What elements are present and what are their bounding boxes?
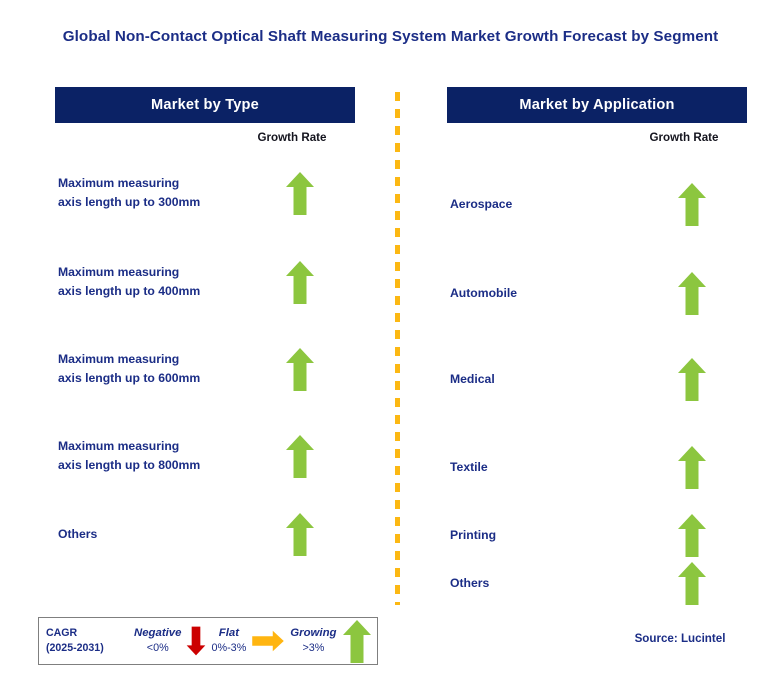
segment-row: Maximum measuringaxis length up to 400mm [55,254,355,310]
legend-entry-name: Growing [290,626,336,641]
growth-rate-cell [245,512,355,557]
segment-row: Others [55,506,355,562]
growth-rate-header-type: Growth Rate [237,131,347,144]
growth-rate-cell [637,513,747,558]
legend-entry-text: Flat0%-3% [208,626,249,656]
legend-entry-icon-wrap [184,626,208,656]
legend-entry-text: Negative<0% [131,626,184,656]
legend-cagr-title: CAGR (2025-2031) [39,626,131,656]
growth-rate-cell [637,445,747,490]
segment-label-line1: Maximum measuring [58,174,245,193]
arrow-up-icon [342,619,372,664]
growth-rate-cell [637,561,747,606]
segment-row: Others [447,555,747,611]
segment-row: Aerospace [447,176,747,232]
legend-entry-icon-wrap [340,619,374,664]
segment-label: Maximum measuringaxis length up to 800mm [55,437,245,475]
legend-entry: Negative<0% [131,618,208,664]
cagr-legend: CAGR (2025-2031) Negative<0%Flat0%-3%Gro… [38,617,378,665]
segment-label-line1: Maximum measuring [58,263,245,282]
growth-rate-cell [245,171,355,216]
arrow-up-icon [285,512,315,557]
growth-rate-cell [245,434,355,479]
legend-entry-range: >3% [290,641,336,656]
segment-label: Aerospace [447,195,637,214]
segment-label-line1: Automobile [450,284,637,303]
growth-rate-header-application: Growth Rate [629,131,739,144]
legend-entry: Flat0%-3% [208,618,287,664]
arrow-up-icon [677,271,707,316]
growth-rate-cell [637,271,747,316]
segment-label-line1: Printing [450,526,637,545]
legend-cagr-line2: (2025-2031) [46,641,131,656]
segment-label: Textile [447,458,637,477]
segment-label: Medical [447,370,637,389]
segment-row: Maximum measuringaxis length up to 800mm [55,428,355,484]
vertical-dashed-divider [395,92,400,605]
segment-label-line1: Maximum measuring [58,350,245,369]
segment-label-line2: axis length up to 600mm [58,369,245,388]
segment-row: Automobile [447,265,747,321]
panel-market-by-type: Market by Type Growth Rate Maximum measu… [55,87,355,123]
segment-row: Maximum measuringaxis length up to 600mm [55,341,355,397]
segment-label-line2: axis length up to 800mm [58,456,245,475]
segment-row: Maximum measuringaxis length up to 300mm [55,165,355,221]
legend-cagr-line1: CAGR [46,626,131,641]
arrow-up-icon [677,357,707,402]
segment-label-line1: Textile [450,458,637,477]
growth-rate-cell [245,347,355,392]
arrow-up-icon [677,561,707,606]
segment-label: Printing [447,526,637,545]
segment-label-line1: Aerospace [450,195,637,214]
source-note: Source: Lucintel [600,632,760,645]
legend-entry-icon-wrap [249,630,287,652]
legend-entry-range: <0% [134,641,181,656]
segment-label-line2: axis length up to 400mm [58,282,245,301]
arrow-up-icon [285,260,315,305]
segment-row: Medical [447,351,747,407]
segment-label-line1: Maximum measuring [58,437,245,456]
segment-label: Maximum measuringaxis length up to 300mm [55,174,245,212]
panel-header-market-by-type: Market by Type [55,87,355,123]
segment-row: Textile [447,439,747,495]
segment-label-line1: Others [450,574,637,593]
legend-entry-name: Negative [134,626,181,641]
arrow-up-icon [285,434,315,479]
segment-label-line1: Others [58,525,245,544]
growth-rate-cell [637,357,747,402]
arrow-down-icon [186,626,206,656]
segment-label: Others [447,574,637,593]
segment-label-line2: axis length up to 300mm [58,193,245,212]
arrow-up-icon [677,182,707,227]
segment-label: Maximum measuringaxis length up to 400mm [55,263,245,301]
segment-label: Automobile [447,284,637,303]
growth-rate-cell [245,260,355,305]
legend-entry: Growing>3% [287,618,373,664]
arrow-up-icon [677,513,707,558]
legend-entry-name: Flat [211,626,246,641]
growth-rate-cell [637,182,747,227]
legend-entry-range: 0%-3% [211,641,246,656]
arrow-right-icon [251,630,285,652]
legend-entry-text: Growing>3% [287,626,339,656]
legend-entry-list: Negative<0%Flat0%-3%Growing>3% [131,618,374,664]
page-title: Global Non-Contact Optical Shaft Measuri… [0,28,781,45]
arrow-up-icon [677,445,707,490]
segment-label-line1: Medical [450,370,637,389]
segment-label: Others [55,525,245,544]
arrow-up-icon [285,171,315,216]
panel-market-by-application: Market by Application Growth Rate Aerosp… [447,87,747,123]
segment-label: Maximum measuringaxis length up to 600mm [55,350,245,388]
panel-header-market-by-application: Market by Application [447,87,747,123]
arrow-up-icon [285,347,315,392]
